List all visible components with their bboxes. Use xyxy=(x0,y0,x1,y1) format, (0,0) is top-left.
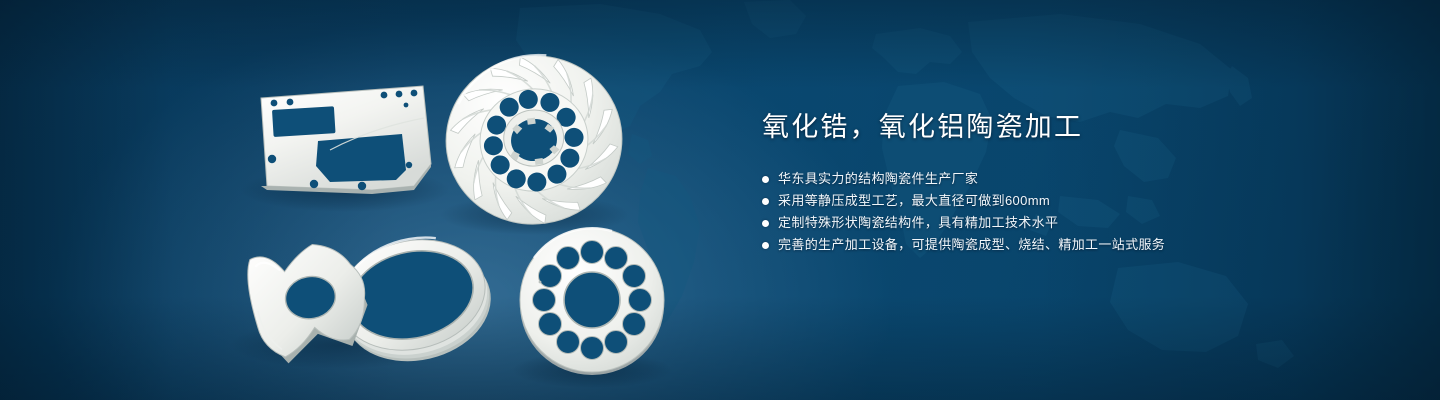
banner-title: 氧化锆，氧化铝陶瓷加工 xyxy=(762,110,1382,144)
ceramic-machined-plate xyxy=(261,86,431,194)
bullet-dot-icon xyxy=(762,242,769,249)
feature-text: 完善的生产加工设备，可提供陶瓷成型、烧结、精加工一站式服务 xyxy=(778,234,1165,256)
product-banner: 氧化锆，氧化铝陶瓷加工 华东具实力的结构陶瓷件生产厂家 采用等静压成型工艺，最大… xyxy=(0,0,1440,400)
list-item: 完善的生产加工设备，可提供陶瓷成型、烧结、精加工一站式服务 xyxy=(762,234,1382,256)
bullet-dot-icon xyxy=(762,198,769,205)
feature-text: 华东具实力的结构陶瓷件生产厂家 xyxy=(778,168,978,190)
feature-text: 采用等静压成型工艺，最大直径可做到600mm xyxy=(778,190,1050,212)
list-item: 采用等静压成型工艺，最大直径可做到600mm xyxy=(762,190,1382,212)
plate-cutout-main xyxy=(316,134,406,182)
plate-cutout-upper xyxy=(272,106,336,137)
list-item: 华东具实力的结构陶瓷件生产厂家 xyxy=(762,168,1382,190)
feature-list: 华东具实力的结构陶瓷件生产厂家 采用等静压成型工艺，最大直径可做到600mm 定… xyxy=(762,168,1382,256)
ceramic-products-photo xyxy=(0,0,760,400)
bullet-dot-icon xyxy=(762,220,769,227)
feature-text: 定制特殊形状陶瓷结构件，具有精加工技术水平 xyxy=(778,212,1058,234)
bullet-dot-icon xyxy=(762,176,769,183)
ceramic-perforated-disc xyxy=(520,228,664,375)
banner-text-block: 氧化锆，氧化铝陶瓷加工 华东具实力的结构陶瓷件生产厂家 采用等静压成型工艺，最大… xyxy=(762,110,1382,256)
list-item: 定制特殊形状陶瓷结构件，具有精加工技术水平 xyxy=(762,212,1382,234)
